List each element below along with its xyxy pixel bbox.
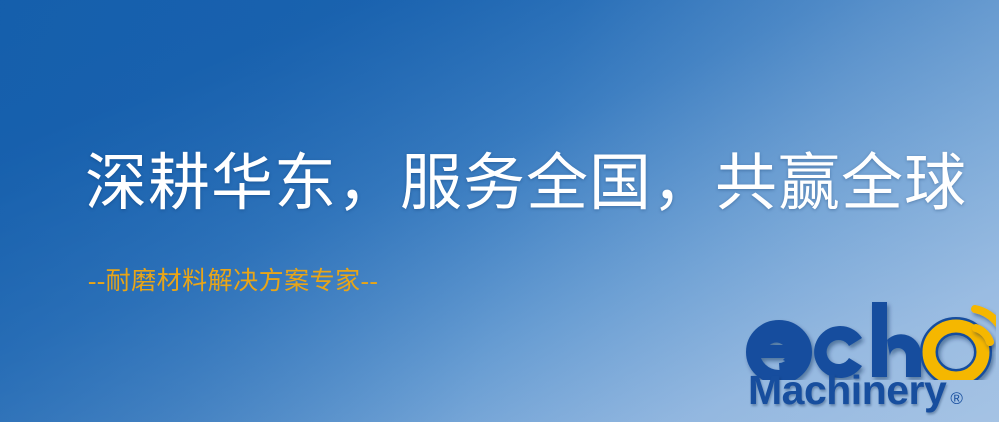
logo-letter-h xyxy=(872,302,921,377)
promo-banner: 深耕华东，服务全国，共赢全球 --耐磨材料解决方案专家-- xyxy=(0,0,999,422)
banner-headline: 深耕华东，服务全国，共赢全球 xyxy=(85,152,967,217)
logo-machinery-line: Machinery ® xyxy=(748,370,996,411)
banner-subtitle: --耐磨材料解决方案专家-- xyxy=(88,268,378,296)
logo-machinery-text: Machinery xyxy=(748,370,946,411)
echo-machinery-logo[interactable]: Machinery ® xyxy=(744,296,996,418)
registered-trademark-icon: ® xyxy=(950,390,963,407)
